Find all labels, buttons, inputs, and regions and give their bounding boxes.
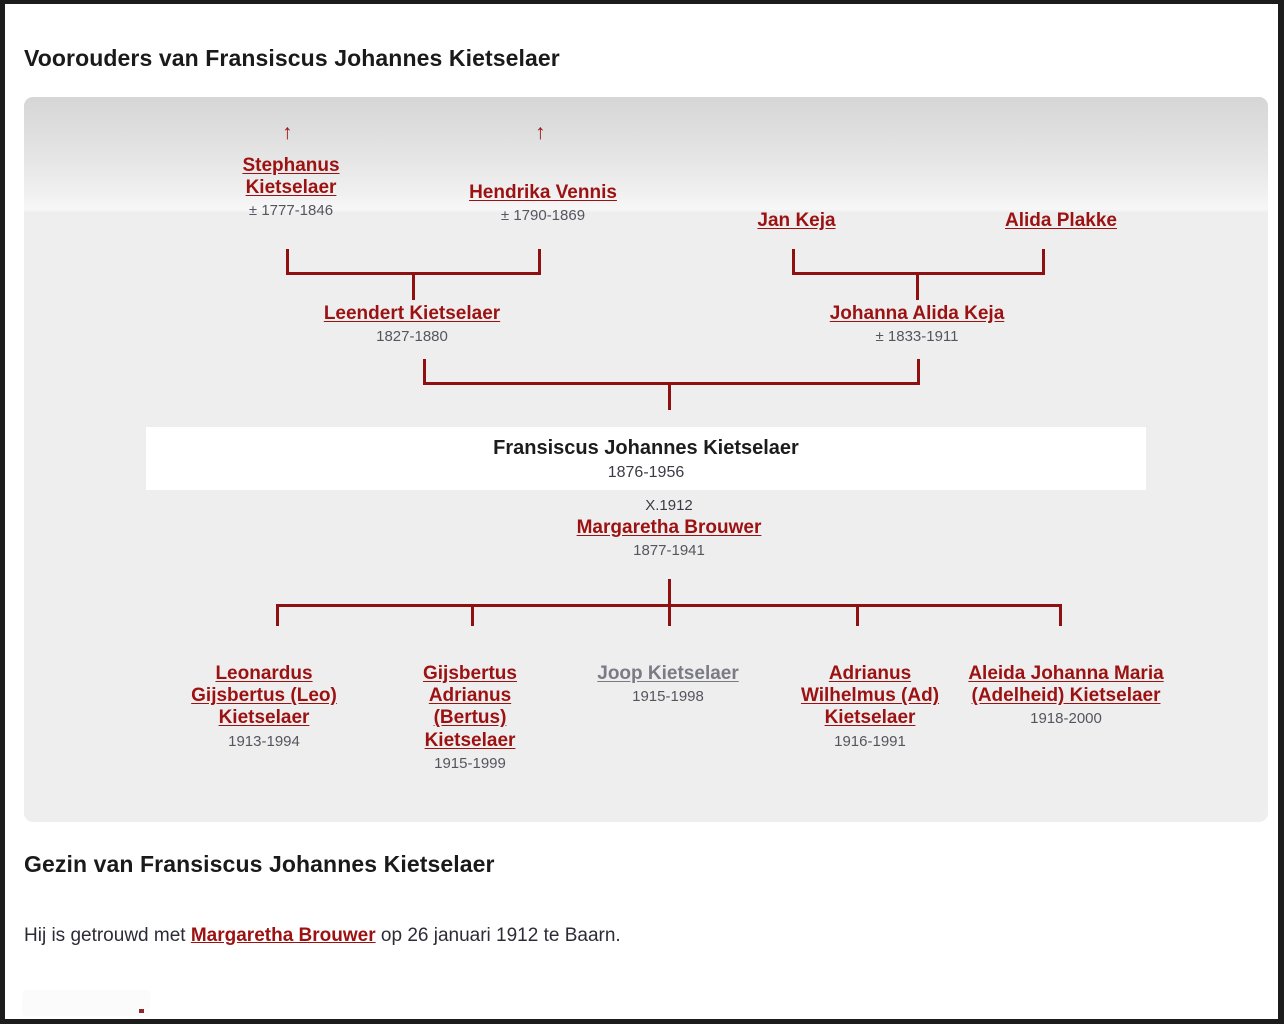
more-ancestors-arrow-hendrika[interactable]: ↑ (535, 122, 546, 143)
connector-line (412, 272, 415, 300)
marriage-label: X.1912 (524, 497, 814, 515)
person-link-johanna-alida-keja[interactable]: Johanna Alida Keja (830, 303, 1005, 325)
person-node-hendrika-vennis: Hendrika Vennis ± 1790-1869 (423, 182, 663, 225)
window-edge-top (0, 0, 1284, 4)
person-dates-hendrika-vennis: ± 1790-1869 (423, 207, 663, 225)
connector-line (916, 272, 919, 300)
person-dates-margaretha-brouwer: 1877-1941 (524, 542, 814, 560)
partial-bottom-element[interactable] (22, 990, 150, 1016)
person-dates-child-aleida: 1918-2000 (966, 710, 1166, 728)
connector-line (423, 382, 920, 385)
person-node-leendert-kietselaer: Leendert Kietselaer 1827-1880 (279, 303, 545, 346)
person-link-child-aleida[interactable]: Aleida Johanna Maria (Adelheid) Kietsela… (966, 663, 1166, 707)
connector-line (856, 604, 859, 626)
person-dates-leendert-kietselaer: 1827-1880 (279, 328, 545, 346)
subject-person-dates: 1876-1956 (146, 464, 1146, 482)
person-link-leendert-kietselaer[interactable]: Leendert Kietselaer (324, 303, 500, 325)
person-node-alida-plakke: Alida Plakke (952, 210, 1170, 232)
connector-line (668, 604, 671, 626)
subject-person-box: Fransiscus Johannes Kietselaer 1876-1956 (146, 427, 1146, 490)
person-dates-child-leonardus: 1913-1994 (169, 733, 359, 751)
page-title-ancestors: Voorouders van Fransiscus Johannes Kiets… (24, 45, 560, 72)
person-dates-child-joop: 1915-1998 (560, 688, 776, 706)
person-link-child-joop[interactable]: Joop Kietselaer (597, 663, 739, 685)
partial-bottom-marker (139, 1009, 144, 1013)
marriage-spouse-link[interactable]: Margaretha Brouwer (191, 925, 376, 946)
person-node-child-leonardus: Leonardus Gijsbertus (Leo) Kietselaer 19… (169, 663, 359, 750)
connector-line (1059, 604, 1062, 626)
person-link-stephanus-kietselaer[interactable]: Stephanus Kietselaer (201, 155, 381, 199)
connector-line (471, 604, 474, 626)
person-node-child-adrianus: Adrianus Wilhelmus (Ad) Kietselaer 1916-… (780, 663, 960, 750)
person-dates-child-adrianus: 1916-1991 (780, 733, 960, 751)
marriage-sentence: Hij is getrouwd met Margaretha Brouwer o… (24, 925, 621, 947)
person-dates-johanna-alida-keja: ± 1833-1911 (784, 328, 1050, 346)
person-node-johanna-alida-keja: Johanna Alida Keja ± 1833-1911 (784, 303, 1050, 346)
person-node-jan-keja: Jan Keja (699, 210, 894, 232)
page-title-family: Gezin van Fransiscus Johannes Kietselaer (24, 851, 495, 878)
marriage-sentence-prefix: Hij is getrouwd met (24, 925, 191, 946)
person-link-child-adrianus[interactable]: Adrianus Wilhelmus (Ad) Kietselaer (780, 663, 960, 730)
connector-line (668, 382, 671, 410)
window-edge-left (0, 0, 5, 1024)
more-ancestors-arrow-stephanus[interactable]: ↑ (282, 122, 293, 143)
person-link-margaretha-brouwer[interactable]: Margaretha Brouwer (577, 517, 762, 539)
person-dates-child-gijsbertus: 1915-1999 (394, 755, 546, 773)
person-node-child-joop: Joop Kietselaer 1915-1998 (560, 663, 776, 706)
person-link-child-gijsbertus[interactable]: Gijsbertus Adrianus (Bertus) Kietselaer (394, 663, 546, 752)
person-link-alida-plakke[interactable]: Alida Plakke (1005, 210, 1117, 232)
person-link-hendrika-vennis[interactable]: Hendrika Vennis (469, 182, 617, 204)
person-node-stephanus-kietselaer: Stephanus Kietselaer ± 1777-1846 (201, 155, 381, 220)
person-link-jan-keja[interactable]: Jan Keja (757, 210, 835, 232)
person-node-child-gijsbertus: Gijsbertus Adrianus (Bertus) Kietselaer … (394, 663, 546, 772)
ancestors-chart-panel: ↑ ↑ Stephanus Kietselaer ± 1777-1846 Hen… (24, 97, 1268, 822)
marriage-sentence-suffix: op 26 januari 1912 te Baarn. (376, 925, 621, 946)
connector-line (276, 604, 279, 626)
connector-line (668, 579, 671, 607)
person-node-child-aleida: Aleida Johanna Maria (Adelheid) Kietsela… (966, 663, 1166, 728)
person-node-margaretha-brouwer: X.1912 Margaretha Brouwer 1877-1941 (524, 497, 814, 559)
page-root: Voorouders van Fransiscus Johannes Kiets… (0, 0, 1284, 1024)
subject-person-name: Fransiscus Johannes Kietselaer (146, 437, 1146, 460)
person-link-child-leonardus[interactable]: Leonardus Gijsbertus (Leo) Kietselaer (169, 663, 359, 730)
person-dates-stephanus-kietselaer: ± 1777-1846 (201, 202, 381, 220)
